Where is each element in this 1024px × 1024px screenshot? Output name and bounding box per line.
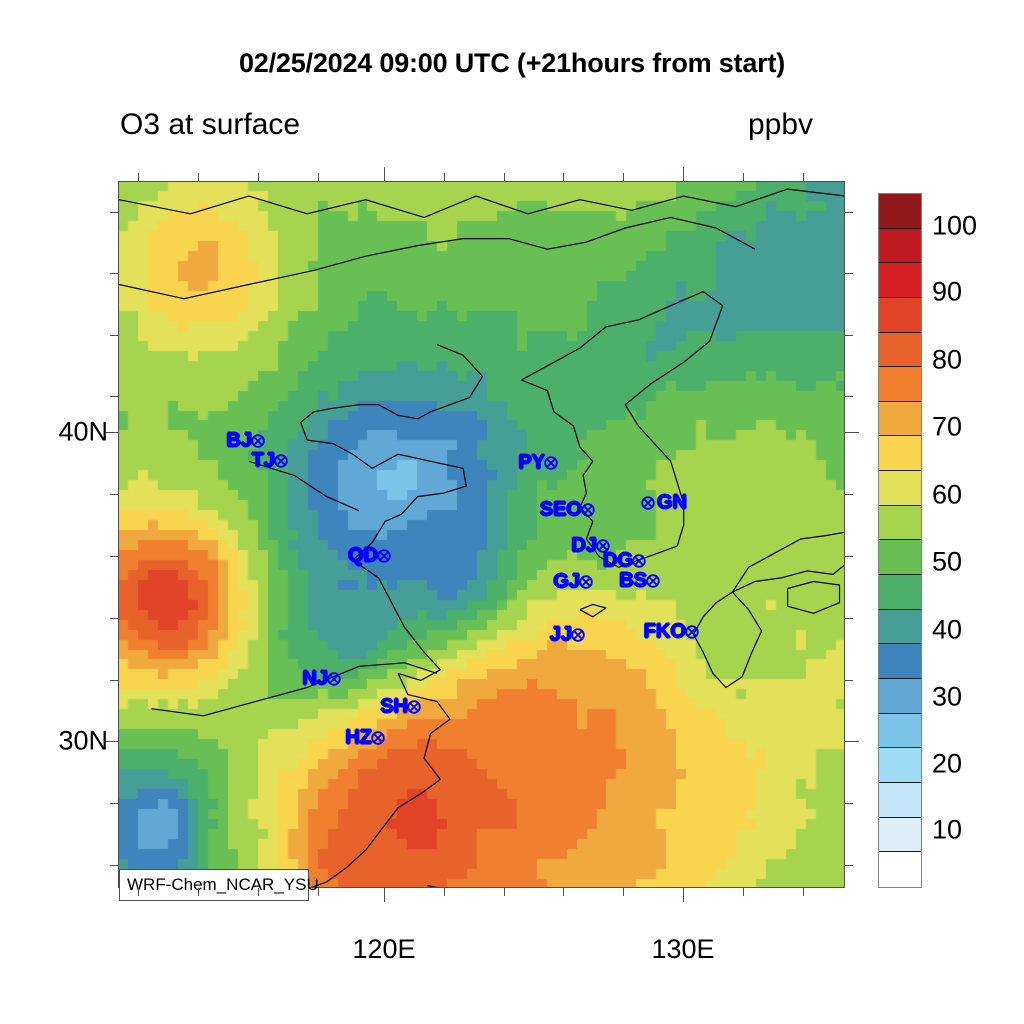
station-label: GN — [657, 492, 687, 515]
coastline-path — [580, 604, 606, 616]
station-label: BJ — [226, 430, 252, 453]
circled-cross-icon — [377, 549, 392, 564]
circled-cross-icon — [581, 503, 596, 518]
x-axis-tick-label: 130E — [651, 934, 714, 965]
colorbar-band — [879, 367, 921, 402]
axis-tick — [110, 494, 118, 495]
axis-tick — [110, 396, 118, 397]
colorbar-tick-label: 70 — [932, 412, 962, 443]
coastline-path — [788, 582, 840, 614]
axis-tick — [563, 173, 564, 181]
axis-tick — [384, 888, 385, 902]
figure-root: 02/25/2024 09:00 UTC (+21hours from star… — [0, 0, 1024, 1024]
station-label: SH — [380, 696, 408, 719]
station-label: QD — [348, 545, 378, 568]
coastline-path — [427, 886, 443, 889]
colorbar-band — [879, 471, 921, 506]
axis-tick — [504, 173, 505, 181]
circled-cross-icon — [544, 456, 559, 471]
colorbar-band — [879, 436, 921, 471]
axis-tick — [845, 618, 853, 619]
coastline-path — [119, 217, 755, 298]
colorbar-band — [879, 540, 921, 575]
colorbar-band — [879, 506, 921, 541]
y-axis-tick-label: 40N — [58, 417, 108, 448]
axis-tick — [318, 173, 319, 181]
axis-tick — [845, 432, 859, 433]
axis-tick — [258, 173, 259, 181]
coastline-overlay — [119, 182, 845, 888]
variable-title: O3 at surface — [120, 108, 300, 142]
colorbar-band — [879, 818, 921, 853]
axis-tick — [504, 888, 505, 896]
colorbar-band — [879, 263, 921, 298]
axis-tick — [845, 741, 859, 742]
axis-tick — [845, 494, 853, 495]
station-label: BS — [619, 570, 647, 593]
axis-tick — [198, 173, 199, 181]
colorbar-band — [879, 679, 921, 714]
axis-tick — [743, 173, 744, 181]
colorbar-tick-label: 20 — [932, 749, 962, 780]
colorbar-tick-label: 40 — [932, 615, 962, 646]
axis-tick — [845, 680, 853, 681]
axis-tick — [845, 865, 853, 866]
colorbar-band — [879, 298, 921, 333]
axis-tick — [138, 888, 139, 896]
circled-cross-icon — [407, 700, 422, 715]
axis-tick — [318, 888, 319, 896]
circled-cross-icon — [685, 625, 700, 640]
circled-cross-icon — [251, 434, 266, 449]
colorbar-band — [879, 333, 921, 368]
axis-tick — [563, 888, 564, 896]
axis-tick — [845, 556, 853, 557]
circled-cross-icon — [327, 672, 342, 687]
axis-tick — [110, 865, 118, 866]
y-axis-tick-label: 30N — [58, 726, 108, 757]
colorbar-band — [879, 194, 921, 229]
colorbar-band — [879, 852, 921, 887]
station-label: JJ — [550, 624, 572, 647]
circled-cross-icon — [371, 731, 386, 746]
axis-tick — [110, 335, 118, 336]
axis-tick — [623, 888, 624, 896]
coastline-path — [119, 189, 845, 217]
circled-cross-icon — [641, 496, 656, 511]
colorbar-band — [879, 748, 921, 783]
colorbar-band — [879, 575, 921, 610]
colorbar-tick-label: 100 — [932, 211, 977, 242]
circled-cross-icon — [646, 574, 661, 589]
axis-tick — [138, 173, 139, 181]
axis-tick — [258, 888, 259, 896]
colorbar-band — [879, 783, 921, 818]
model-attribution-tag: WRF-Chem_NCAR_YSU — [119, 869, 309, 901]
station-label: DJ — [571, 535, 597, 558]
colorbar-band — [879, 714, 921, 749]
axis-tick — [110, 273, 118, 274]
station-label: GJ — [553, 571, 580, 594]
axis-tick — [803, 173, 804, 181]
axis-tick — [683, 888, 684, 902]
axis-tick — [845, 273, 853, 274]
axis-tick — [845, 396, 853, 397]
station-label: NJ — [302, 668, 328, 691]
axis-tick — [845, 212, 853, 213]
coastline-path — [694, 592, 762, 687]
colorbar-band — [879, 402, 921, 437]
axis-tick — [743, 888, 744, 896]
x-axis-tick-label: 120E — [352, 934, 415, 965]
page-title: 02/25/2024 09:00 UTC (+21hours from star… — [0, 48, 1024, 79]
station-label: FKO — [644, 621, 686, 644]
circled-cross-icon — [579, 575, 594, 590]
model-tag-text: WRF-Chem_NCAR_YSU — [127, 875, 319, 895]
colorbar-tick-label: 50 — [932, 547, 962, 578]
colorbar-tick-label: 10 — [932, 815, 962, 846]
axis-tick — [198, 888, 199, 896]
circled-cross-icon — [632, 554, 647, 569]
axis-tick — [110, 680, 118, 681]
coastline-path — [301, 345, 483, 888]
coastline-path — [521, 292, 722, 380]
axis-tick — [845, 335, 853, 336]
colorbar-tick-label: 80 — [932, 345, 962, 376]
axis-tick — [845, 803, 853, 804]
colorbar-band — [879, 229, 921, 264]
axis-tick — [623, 173, 624, 181]
station-label: HZ — [345, 727, 372, 750]
axis-tick — [683, 167, 684, 181]
axis-tick — [444, 173, 445, 181]
station-label: TJ — [252, 450, 275, 473]
circled-cross-icon — [571, 628, 586, 643]
colorbar-tick-label: 30 — [932, 682, 962, 713]
colorbar-tick-label: 60 — [932, 480, 962, 511]
axis-tick — [110, 618, 118, 619]
axis-tick — [444, 888, 445, 896]
station-label: PY — [518, 452, 545, 475]
colorbar[interactable] — [878, 193, 922, 888]
axis-tick — [803, 888, 804, 896]
station-label: SEO — [540, 499, 582, 522]
colorbar-tick-label: 90 — [932, 277, 962, 308]
colorbar-band — [879, 610, 921, 645]
units-label: ppbv — [748, 108, 813, 142]
axis-tick — [384, 167, 385, 181]
axis-tick — [110, 803, 118, 804]
colorbar-band — [879, 644, 921, 679]
coastline-path — [521, 306, 722, 568]
circled-cross-icon — [274, 454, 289, 469]
axis-tick — [110, 212, 118, 213]
map-plot-area[interactable] — [118, 181, 845, 888]
axis-tick — [110, 556, 118, 557]
